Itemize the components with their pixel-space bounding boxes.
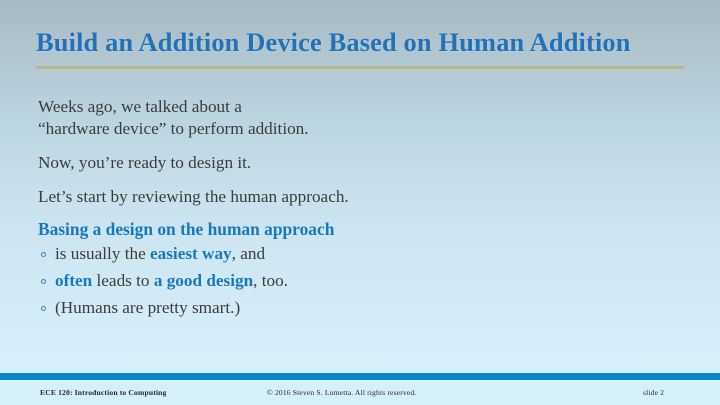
list-item-text: is usually the easiest way, and xyxy=(55,244,265,263)
list-item: often leads to a good design, too. xyxy=(38,270,688,293)
list-item-text: often leads to a good design, too. xyxy=(55,271,288,290)
plain-text: , and xyxy=(232,244,265,263)
footer-course-label: ECE 120: Introduction to Computing xyxy=(40,388,166,397)
list-item-text: (Humans are pretty smart.) xyxy=(55,298,240,317)
list-item: is usually the easiest way, and xyxy=(38,243,688,266)
plain-text: is usually the xyxy=(55,244,150,263)
bullet-list: is usually the easiest way, and often le… xyxy=(38,243,688,320)
list-item: (Humans are pretty smart.) xyxy=(38,297,688,320)
title-underline-rule xyxy=(36,66,684,69)
title-block: Build an Addition Device Based on Human … xyxy=(36,27,684,69)
emphasized-text: often xyxy=(55,271,92,290)
plain-text: (Humans are pretty smart.) xyxy=(55,298,240,317)
emphasized-text: a good design xyxy=(154,271,253,290)
page-title: Build an Addition Device Based on Human … xyxy=(36,27,684,58)
slide-footer: ECE 120: Introduction to Computing © 201… xyxy=(0,380,720,405)
footer-copyright-label: © 2016 Steven S. Lumetta. All rights res… xyxy=(267,388,416,397)
slide-body: Weeks ago, we talked about a “hardware d… xyxy=(38,96,688,324)
section-heading: Basing a design on the human approach xyxy=(38,218,688,240)
emphasized-text: easiest way xyxy=(150,244,232,263)
slide-canvas: Build an Addition Device Based on Human … xyxy=(0,0,720,405)
footer-accent-bar xyxy=(0,373,720,380)
plain-text: , too. xyxy=(253,271,288,290)
plain-text: leads to xyxy=(92,271,154,290)
bullet-circle-icon xyxy=(41,279,46,284)
body-paragraph-1: Weeks ago, we talked about a “hardware d… xyxy=(38,96,688,140)
body-paragraph-3: Let’s start by reviewing the human appro… xyxy=(38,186,688,208)
footer-slide-number: slide 2 xyxy=(643,388,664,397)
body-paragraph-2: Now, you’re ready to design it. xyxy=(38,152,688,174)
bullet-circle-icon xyxy=(41,252,46,257)
bullet-circle-icon xyxy=(41,306,46,311)
